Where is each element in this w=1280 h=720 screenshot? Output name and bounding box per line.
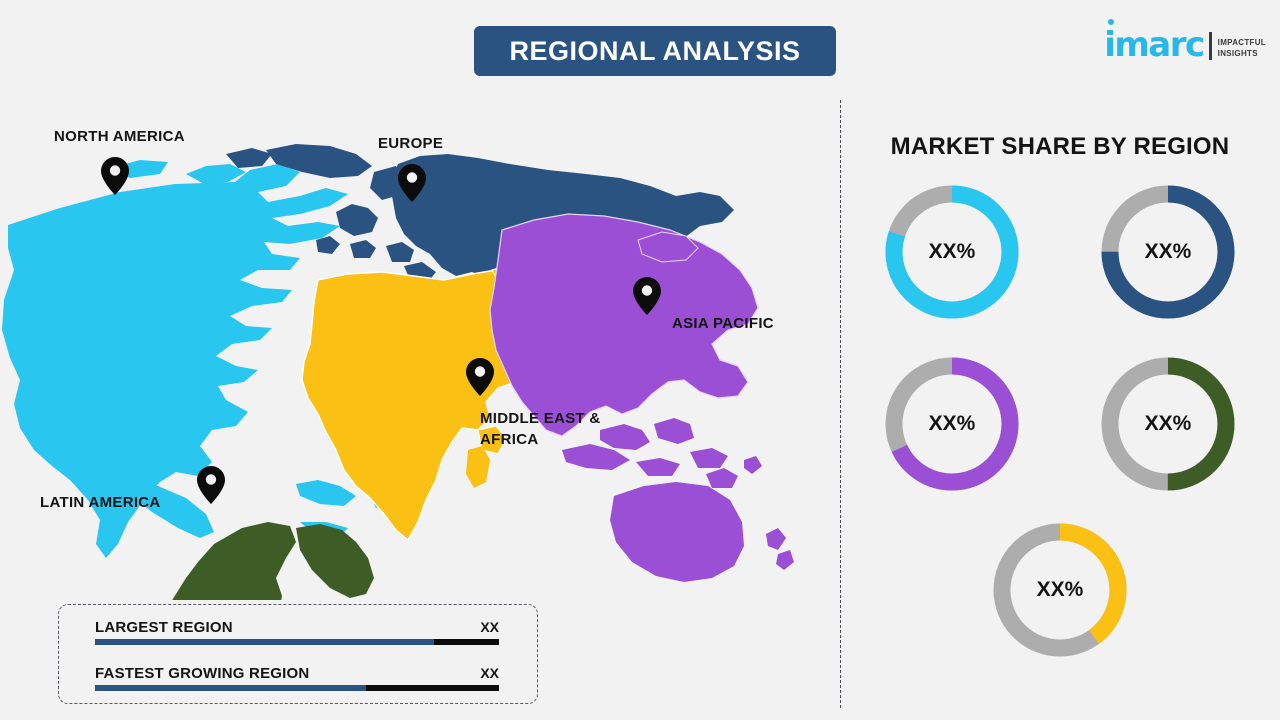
donut-chart-north-america[interactable]: XX% [878, 178, 1026, 326]
largest-region-value: XX [480, 619, 499, 635]
region-summary-box: LARGEST REGION XX FASTEST GROWING REGION… [58, 604, 538, 704]
donut-value-latin-america: XX% [1094, 350, 1242, 498]
map-pin-latin-america[interactable] [197, 466, 225, 504]
donut-value-europe: XX% [1094, 178, 1242, 326]
largest-region-label: LARGEST REGION [95, 619, 233, 636]
market-share-title: MARKET SHARE BY REGION [840, 133, 1280, 161]
map-label-europe: EUROPE [378, 133, 443, 154]
donut-chart-asia-pacific[interactable]: XX% [878, 350, 1026, 498]
donut-value-asia-pacific: XX% [878, 350, 1026, 498]
map-pin-north-america[interactable] [101, 157, 129, 195]
map-label-latin-america: LATIN AMERICA [40, 492, 161, 513]
logo-wordmark-text: imarc [1104, 25, 1203, 65]
map-pin-middle-east-africa[interactable] [466, 358, 494, 396]
donut-chart-latin-america[interactable]: XX% [1094, 350, 1242, 498]
logo-tagline: IMPACTFUL INSIGHTS [1218, 37, 1266, 59]
fastest-growing-region-bar-fill [95, 685, 366, 691]
map-label-north-america: NORTH AMERICA [54, 126, 185, 147]
largest-region-bar-track [95, 639, 499, 645]
fastest-growing-region-row: FASTEST GROWING REGION XX [95, 665, 499, 691]
logo-divider-bar [1209, 32, 1212, 60]
fastest-growing-region-bar-track [95, 685, 499, 691]
map-pin-europe[interactable] [398, 164, 426, 202]
fastest-growing-region-value: XX [480, 665, 499, 681]
logo-tagline-line1: IMPACTFUL [1218, 37, 1266, 48]
map-pin-asia-pacific[interactable] [633, 277, 661, 315]
page-title: REGIONAL ANALYSIS [509, 36, 800, 67]
fastest-growing-region-label: FASTEST GROWING REGION [95, 665, 309, 682]
market-share-donut-grid: XX% XX% XX% XX% XX% [860, 178, 1260, 688]
donut-chart-middle-east-africa[interactable]: XX% [986, 516, 1134, 664]
map-region-asia-pacific [490, 214, 794, 582]
map-label-asia-pacific: ASIA PACIFIC [672, 313, 774, 334]
logo-wordmark: imarc [1104, 28, 1203, 62]
infographic-canvas: REGIONAL ANALYSIS imarc IMPACTFUL INSIGH… [0, 0, 1280, 720]
page-title-badge: REGIONAL ANALYSIS [474, 26, 836, 76]
brand-logo: imarc IMPACTFUL INSIGHTS [1104, 22, 1266, 62]
donut-chart-europe[interactable]: XX% [1094, 178, 1242, 326]
donut-value-middle-east-africa: XX% [986, 516, 1134, 664]
logo-tagline-line2: INSIGHTS [1218, 48, 1266, 59]
map-label-middle-east-africa: MIDDLE EAST & AFRICA [480, 408, 601, 450]
largest-region-bar-fill [95, 639, 434, 645]
panel-divider [840, 100, 841, 708]
largest-region-row: LARGEST REGION XX [95, 619, 499, 645]
donut-value-north-america: XX% [878, 178, 1026, 326]
